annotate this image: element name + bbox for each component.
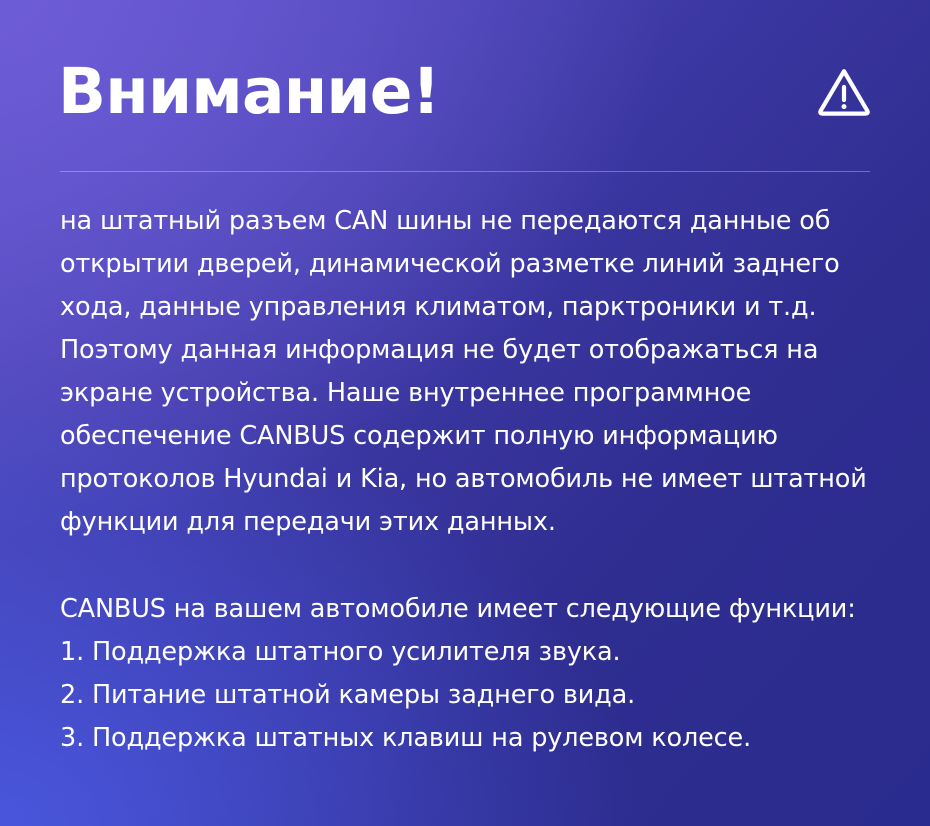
functions-list: 1. Поддержка штатного усилителя звука. 2…: [60, 631, 882, 760]
paragraph-line: обеспечение CANBUS содержит полную инфор…: [60, 415, 882, 458]
list-item: 3. Поддержка штатных клавиш на рулевом к…: [60, 717, 882, 760]
poster-header: Внимание!: [58, 52, 872, 132]
functions-section: CANBUS на вашем автомобиле имеет следующ…: [60, 588, 882, 760]
paragraph-line: на штатный разъем CAN шины не передаются…: [60, 200, 882, 243]
paragraph-line: функции для передачи этих данных.: [60, 501, 882, 544]
paragraph-line: протоколов Hyundai и Kia, но автомобиль …: [60, 458, 882, 501]
paragraph-line: Поэтому данная информация не будет отобр…: [60, 329, 882, 372]
warning-triangle-icon: [816, 66, 872, 118]
paragraph-line: экране устройства. Наше внутреннее прогр…: [60, 372, 882, 415]
paragraph-line: открытии дверей, динамической разметке л…: [60, 243, 882, 286]
warning-paragraph: на штатный разъем CAN шины не передаются…: [60, 200, 882, 544]
list-item: 2. Питание штатной камеры заднего вида.: [60, 674, 882, 717]
header-divider: [60, 171, 870, 172]
paragraph-line: хода, данные управления климатом, парктр…: [60, 286, 882, 329]
list-item: 1. Поддержка штатного усилителя звука.: [60, 631, 882, 674]
page-title: Внимание!: [58, 52, 440, 132]
paragraph-text: на штатный разъем CAN шины не передаются…: [60, 200, 882, 544]
warning-poster: Внимание! на штатный разъем CAN шины не …: [0, 0, 930, 826]
functions-intro: CANBUS на вашем автомобиле имеет следующ…: [60, 588, 882, 631]
